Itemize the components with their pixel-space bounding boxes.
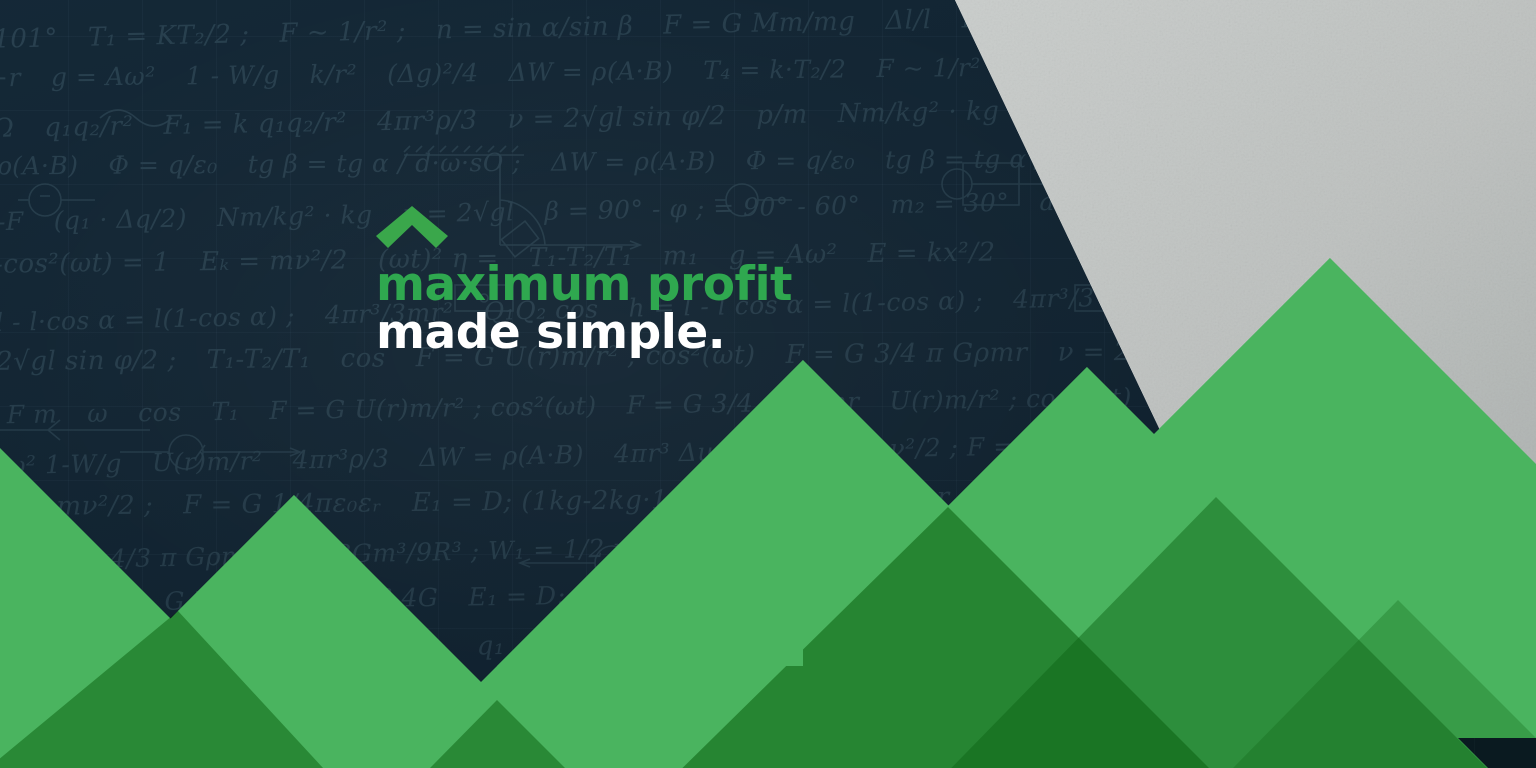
headline-secondary: made simple. — [376, 310, 1156, 355]
peak-left-left-face — [178, 495, 294, 611]
hero-copy: maximum profit made simple. — [376, 206, 1156, 355]
hero-banner: Sin 101°T₁ = KT₂/2 ;F ~ 1/r² ;n = sin α/… — [0, 0, 1536, 768]
mountain-graphic — [0, 0, 1536, 768]
chevron-up-icon — [376, 206, 448, 250]
headline-primary: maximum profit — [376, 262, 1156, 307]
peak-center-left-face — [497, 360, 803, 666]
